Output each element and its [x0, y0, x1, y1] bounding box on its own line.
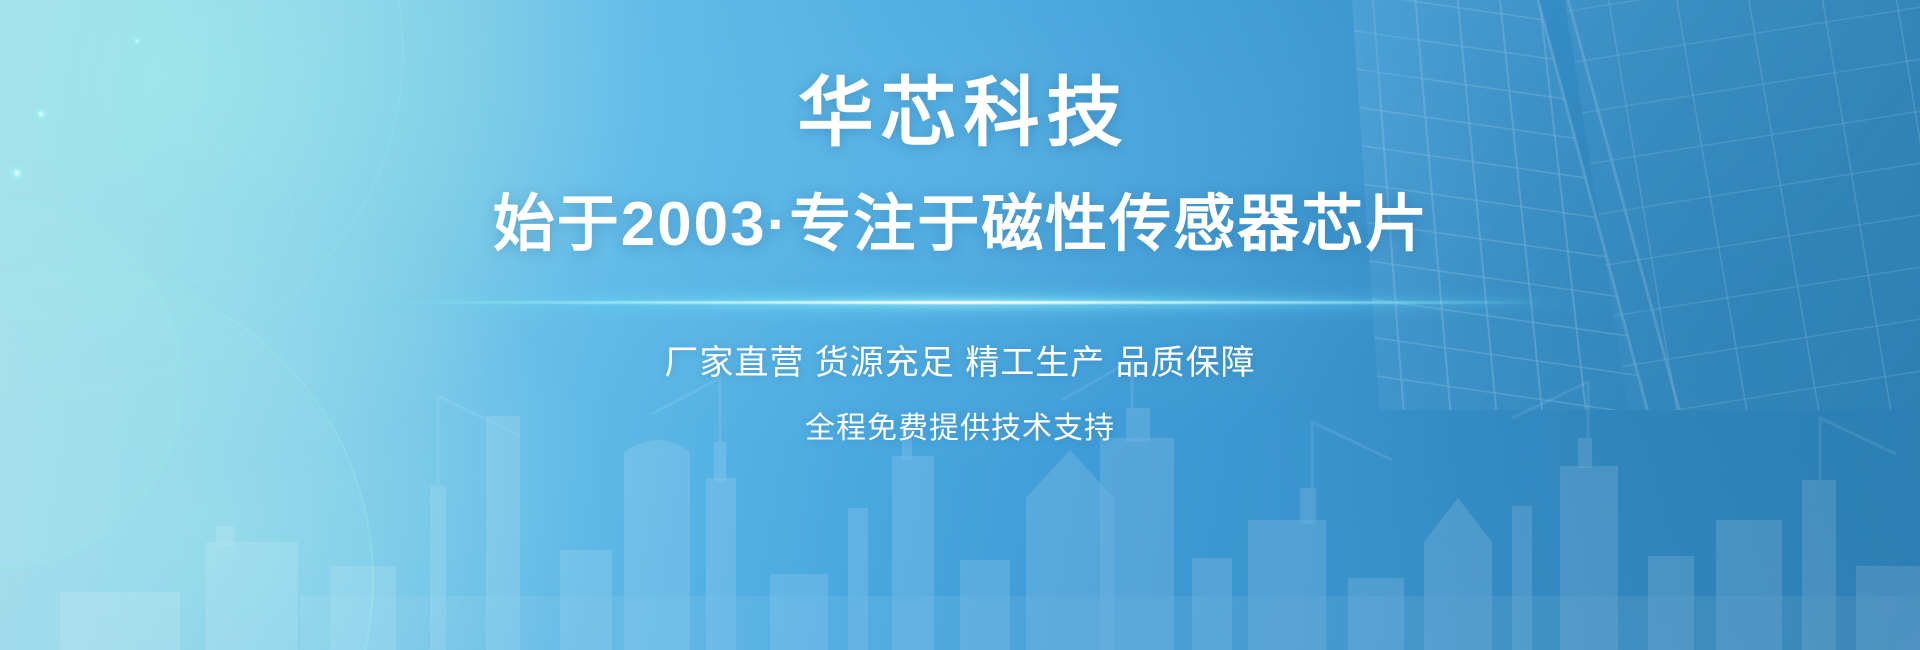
- banner-support: 全程免费提供技术支持: [805, 414, 1115, 444]
- glow-divider: [380, 290, 1540, 316]
- banner-content: 华芯科技 始于2003·专注于磁性传感器芯片 厂家直营 货源充足 精工生产 品质…: [0, 0, 1920, 650]
- banner-title: 华芯科技: [791, 76, 1130, 152]
- glow-divider-core: [380, 301, 1540, 304]
- hero-banner: 华芯科技 始于2003·专注于磁性传感器芯片 厂家直营 货源充足 精工生产 品质…: [0, 0, 1920, 650]
- banner-subtitle: 始于2003·专注于磁性传感器芯片: [491, 194, 1430, 256]
- banner-features: 厂家直营 货源充足 精工生产 品质保障: [664, 346, 1255, 380]
